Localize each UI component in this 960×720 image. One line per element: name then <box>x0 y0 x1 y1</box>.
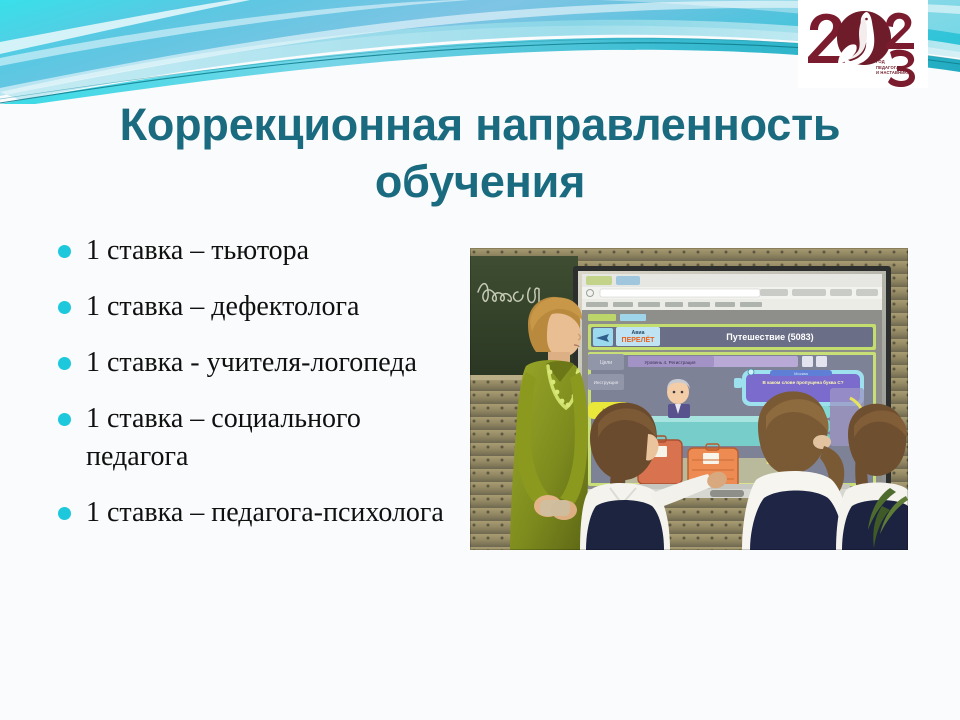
list-item-label: 1 ставка – дефектолога <box>86 291 359 322</box>
staff-positions-list: 1 ставка – тьютора 1 ставка – дефектолог… <box>50 232 450 532</box>
list-item: 1 ставка – педагога-психолога <box>50 494 450 532</box>
whiteboard-menu-instrukciya: Инструкция <box>594 380 619 385</box>
list-item: 1 ставка – социального педагога <box>50 400 450 476</box>
list-item-label: 1 ставка – социального педагога <box>86 403 361 472</box>
whiteboard-task-label: Уровень 4. Регистрация <box>645 360 696 365</box>
whiteboard-brand-line2: ПЕРЕЛЁТ <box>622 336 656 344</box>
year-2023-logo: ГОД ПЕДАГОГА И НАСТАВНИКА <box>798 0 928 88</box>
logo-subtitle: ГОД ПЕДАГОГА И НАСТАВНИКА <box>876 59 920 75</box>
bullet-dot-icon <box>58 245 71 258</box>
whiteboard-question: В каком слове пропущена буква С? <box>762 379 843 385</box>
classroom-photo: Авиа ПЕРЕЛЁТ Путешествие (5083) Цели Инс… <box>470 248 908 550</box>
bullet-dot-icon <box>58 507 71 520</box>
bullet-dot-icon <box>58 301 71 314</box>
list-item-label: 1 ставка - учителя-логопеда <box>86 347 417 378</box>
list-item: 1 ставка - учителя-логопеда <box>50 344 450 382</box>
list-item: 1 ставка – тьютора <box>50 232 450 270</box>
slide: ГОД ПЕДАГОГА И НАСТАВНИКА Коррекционная … <box>0 0 960 720</box>
whiteboard-city-label: Москва <box>794 371 808 376</box>
whiteboard-brand-line1: Авиа <box>631 330 644 336</box>
whiteboard-app-title: Путешествие (5083) <box>726 332 813 342</box>
bullet-dot-icon <box>58 357 71 370</box>
bullet-dot-icon <box>58 413 71 426</box>
page-title: Коррекционная направленность обучения <box>42 96 918 210</box>
list-item: 1 ставка – дефектолога <box>50 288 450 326</box>
list-item-label: 1 ставка – тьютора <box>86 235 309 266</box>
list-item-label: 1 ставка – педагога-психолога <box>86 497 444 528</box>
whiteboard-menu-celi: Цели <box>600 360 612 366</box>
